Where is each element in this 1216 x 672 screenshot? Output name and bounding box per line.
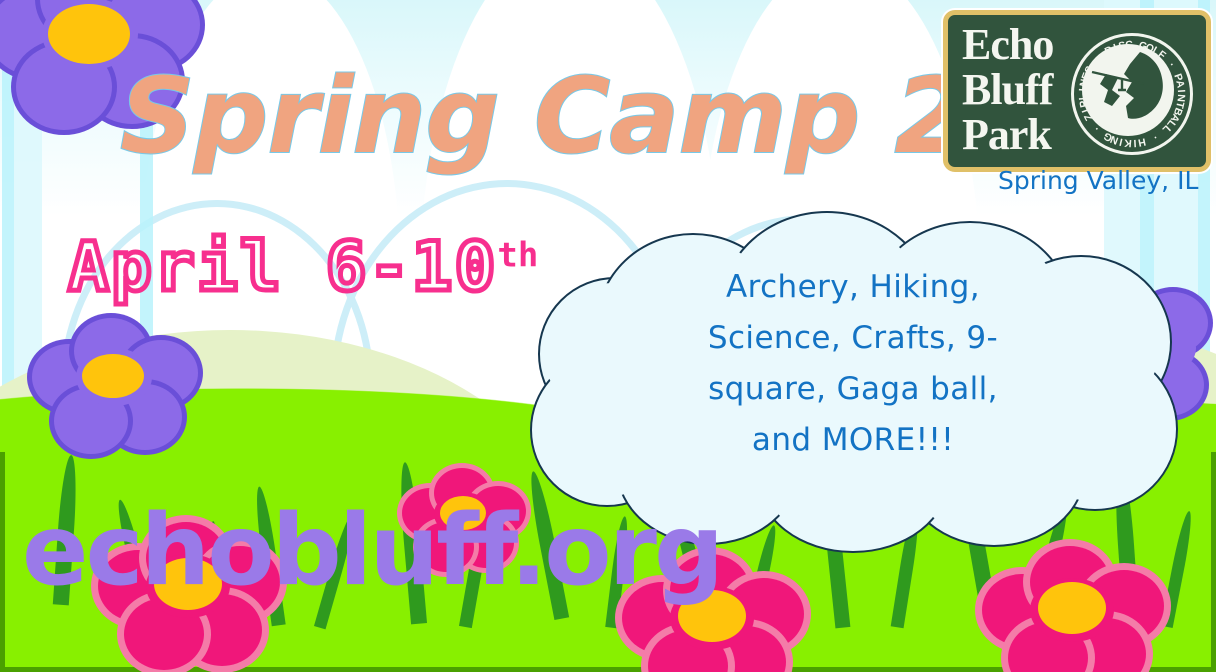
badge-ring-char: C: [1125, 39, 1133, 51]
activities-line: Archery, Hiking,: [668, 262, 1038, 313]
page-title: Spring Camp 2: [120, 55, 966, 177]
flower-center: [82, 354, 144, 398]
activities-line: and MORE!!!: [668, 415, 1038, 466]
camp-dates: April 6-10th: [68, 228, 538, 307]
flower-purple-midleft: [28, 320, 204, 470]
park-activities-badge-icon: ZIPLINES·DISCGOLF·PAINTBALL·HIKING·: [1071, 33, 1193, 155]
badge-ring-text: ZIPLINES·DISCGOLF·PAINTBALL·HIKING·: [1074, 36, 1190, 152]
badge-ring-char: Z: [1082, 111, 1096, 122]
camp-dates-text: April 6-10: [68, 228, 497, 307]
location-tagline: Spring Valley, IL: [998, 166, 1198, 195]
badge-ring-char: ·: [1092, 53, 1103, 64]
flower-center: [1038, 582, 1106, 634]
badge-ring-char: I: [1133, 137, 1137, 149]
poster-canvas: Archery, Hiking, Science, Crafts, 9- squ…: [0, 0, 1216, 672]
website-url[interactable]: echobluff.org: [22, 494, 721, 608]
badge-ring-char: I: [1175, 89, 1187, 93]
badge-ring-char: I: [1077, 88, 1089, 92]
activities-line: Science, Crafts, 9-: [668, 313, 1038, 364]
badge-ring-char: H: [1137, 135, 1147, 148]
badge-ring-char: ·: [1151, 131, 1160, 143]
badge-ring-char: ·: [1091, 123, 1102, 134]
badge-ring-char: K: [1124, 137, 1133, 150]
activities-text: Archery, Hiking, Science, Crafts, 9- squ…: [668, 262, 1038, 466]
activities-line: square, Gaga ball,: [668, 364, 1038, 415]
echo-bluff-park-logo[interactable]: Echo Bluff Park ZIPLINES·DISCGOLF·PAINTB…: [943, 10, 1211, 172]
flower-center: [48, 4, 130, 64]
logo-line-3: Park: [962, 112, 1092, 157]
camp-dates-ordinal: th: [497, 235, 538, 275]
badge-ring-char: L: [1077, 93, 1089, 100]
logo-line-1: Echo: [962, 22, 1092, 67]
badge-ring-char: ·: [1166, 60, 1178, 70]
badge-ring-char: A: [1173, 79, 1186, 89]
flower-pink-bottomright: [980, 548, 1170, 672]
